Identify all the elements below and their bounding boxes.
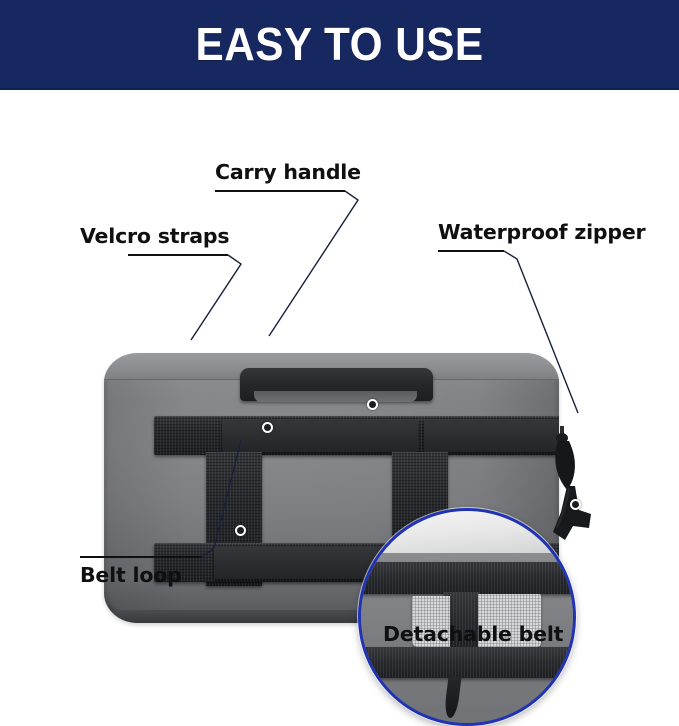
underline-waterproof-zipper xyxy=(438,250,504,252)
callout-dot-velcro-straps xyxy=(262,422,273,433)
underline-carry-handle xyxy=(215,190,345,192)
callout-dot-waterproof-zipper xyxy=(570,499,581,510)
label-waterproof-zipper: Waterproof zipper xyxy=(438,222,645,243)
magnifier-content xyxy=(361,511,573,723)
callout-dot-carry-handle xyxy=(367,399,378,410)
callout-dot-belt-loop xyxy=(235,525,246,536)
velcro-flap-upper-left xyxy=(222,419,418,452)
velcro-flap-upper-right xyxy=(424,419,559,452)
detachable-belt-magnifier xyxy=(358,508,576,726)
underline-belt-loop xyxy=(80,556,202,558)
header-banner: EASY TO USE xyxy=(0,0,679,88)
label-carry-handle: Carry handle xyxy=(215,162,361,183)
magnifier-strap-upper xyxy=(358,562,576,594)
underline-velcro-straps xyxy=(128,254,228,256)
carry-handle-shadow xyxy=(254,391,417,402)
label-belt-loop: Belt loop xyxy=(80,565,182,586)
label-velcro-straps: Velcro straps xyxy=(80,226,229,247)
page-title: EASY TO USE xyxy=(195,21,483,67)
label-detachable-belt: Detachable belt xyxy=(383,624,563,645)
magnifier-strap-lower xyxy=(358,647,576,679)
